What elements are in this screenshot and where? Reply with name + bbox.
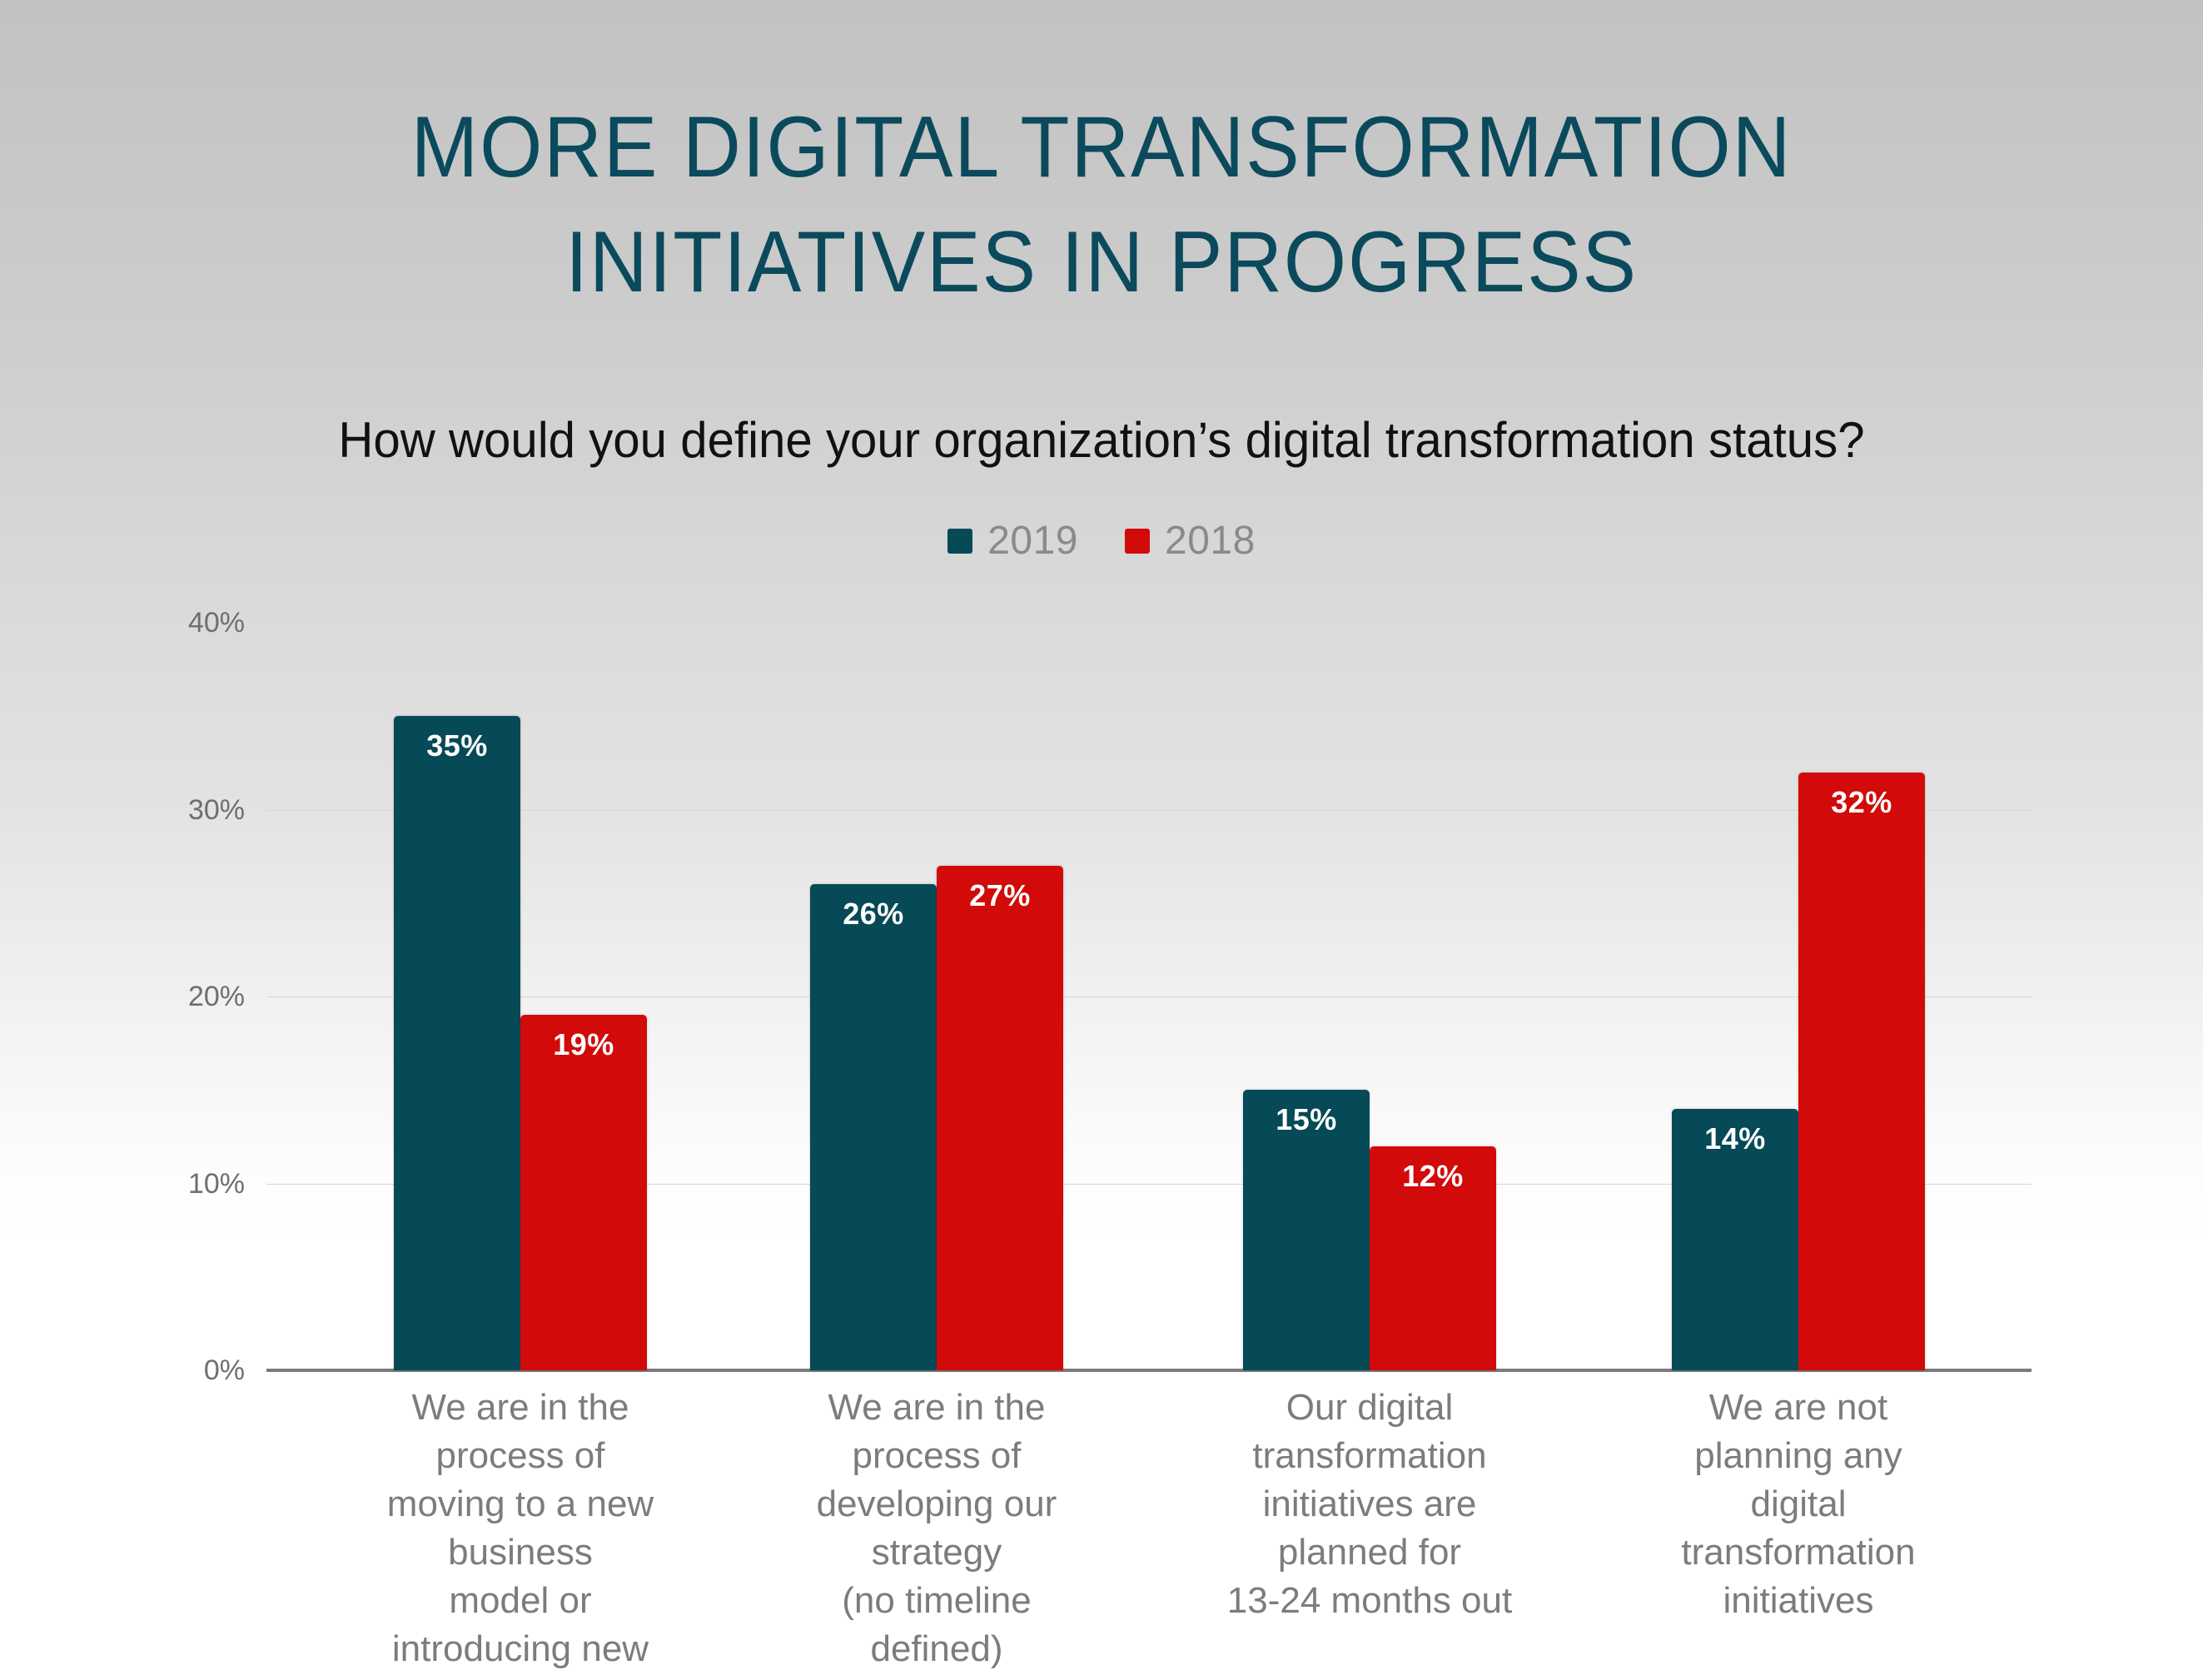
category-4-line-1: We are not planning any [1644,1384,1952,1480]
legend-swatch-icon-2019 [947,529,972,554]
plot-area: 0%10%20%30%40% 35%19%26%27%15%12%14%32% [266,623,2031,1370]
legend-label-2019: 2019 [987,521,1078,561]
bar-2019-group-4[interactable]: 14% [1672,1109,1798,1370]
y-axis-tick-10%: 10% [0,1170,245,1198]
bar-value-label-2019-group-2: 26% [810,897,937,931]
category-1-line-4: digital products/services [366,1673,674,1680]
page-title-line-1: MORE DIGITAL TRANSFORMATION [77,90,2126,205]
page-title: MORE DIGITAL TRANSFORMATION INITIATIVES … [77,90,2126,320]
bar-value-label-2019-group-3: 15% [1243,1103,1370,1136]
gridline-40% [266,623,2031,624]
category-3-line-2: initiatives are planned for [1216,1480,1524,1577]
slide-canvas: MORE DIGITAL TRANSFORMATION INITIATIVES … [0,0,2203,1680]
bar-2019-group-3[interactable]: 15% [1243,1090,1370,1370]
chart-question-subtitle: How would you define your organization’s… [33,410,2171,471]
y-axis-tick-0%: 0% [0,1356,245,1384]
category-1-line-3: model or introducing new [366,1577,674,1673]
category-3-line-1: Our digital transformation [1216,1384,1524,1480]
category-4-line-2: digital transformation [1644,1480,1952,1577]
bar-value-label-2018-group-1: 19% [520,1028,647,1061]
y-axis-tick-20%: 20% [0,982,245,1011]
legend-item-2019[interactable]: 2019 [947,521,1078,561]
category-1-line-2: moving to a new business [366,1480,674,1577]
category-2-line-1: We are in the process of [783,1384,1091,1480]
legend-item-2018[interactable]: 2018 [1125,521,1256,561]
bar-2019-group-2[interactable]: 26% [810,884,937,1370]
legend-label-2018: 2018 [1165,521,1256,561]
chart-legend: 2019 2018 [0,521,2203,561]
bar-value-label-2018-group-2: 27% [937,879,1063,912]
y-axis-tick-40%: 40% [0,609,245,637]
legend-swatch-icon-2018 [1125,529,1150,554]
bar-2019-group-1[interactable]: 35% [394,716,520,1370]
category-2-line-3: (no timeline defined) [783,1577,1091,1673]
x-axis-category-label-4: We are not planning anydigital transform… [1644,1384,1952,1625]
category-4-line-3: initiatives [1644,1577,1952,1625]
page-title-line-2: INITIATIVES IN PROGRESS [77,205,2126,320]
category-1-line-1: We are in the process of [366,1384,674,1480]
x-axis-category-label-1: We are in the process ofmoving to a new … [366,1384,674,1680]
category-2-line-2: developing our strategy [783,1480,1091,1577]
gridline-30% [266,810,2031,811]
bar-value-label-2018-group-4: 32% [1798,786,1925,819]
x-axis-category-label-2: We are in the process ofdeveloping our s… [783,1384,1091,1673]
bar-2018-group-3[interactable]: 12% [1370,1146,1496,1370]
bar-2018-group-2[interactable]: 27% [937,866,1063,1370]
bar-value-label-2019-group-1: 35% [394,729,520,763]
y-axis-tick-30%: 30% [0,796,245,824]
bar-value-label-2019-group-4: 14% [1672,1122,1798,1156]
gridline-20% [266,997,2031,997]
bar-value-label-2018-group-3: 12% [1370,1160,1496,1193]
bar-2018-group-4[interactable]: 32% [1798,773,1925,1370]
bar-2018-group-1[interactable]: 19% [520,1015,647,1370]
category-3-line-3: 13-24 months out [1216,1577,1524,1625]
x-axis-category-label-3: Our digital transformationinitiatives ar… [1216,1384,1524,1625]
x-axis-category-labels: We are in the process ofmoving to a new … [266,1384,2031,1650]
